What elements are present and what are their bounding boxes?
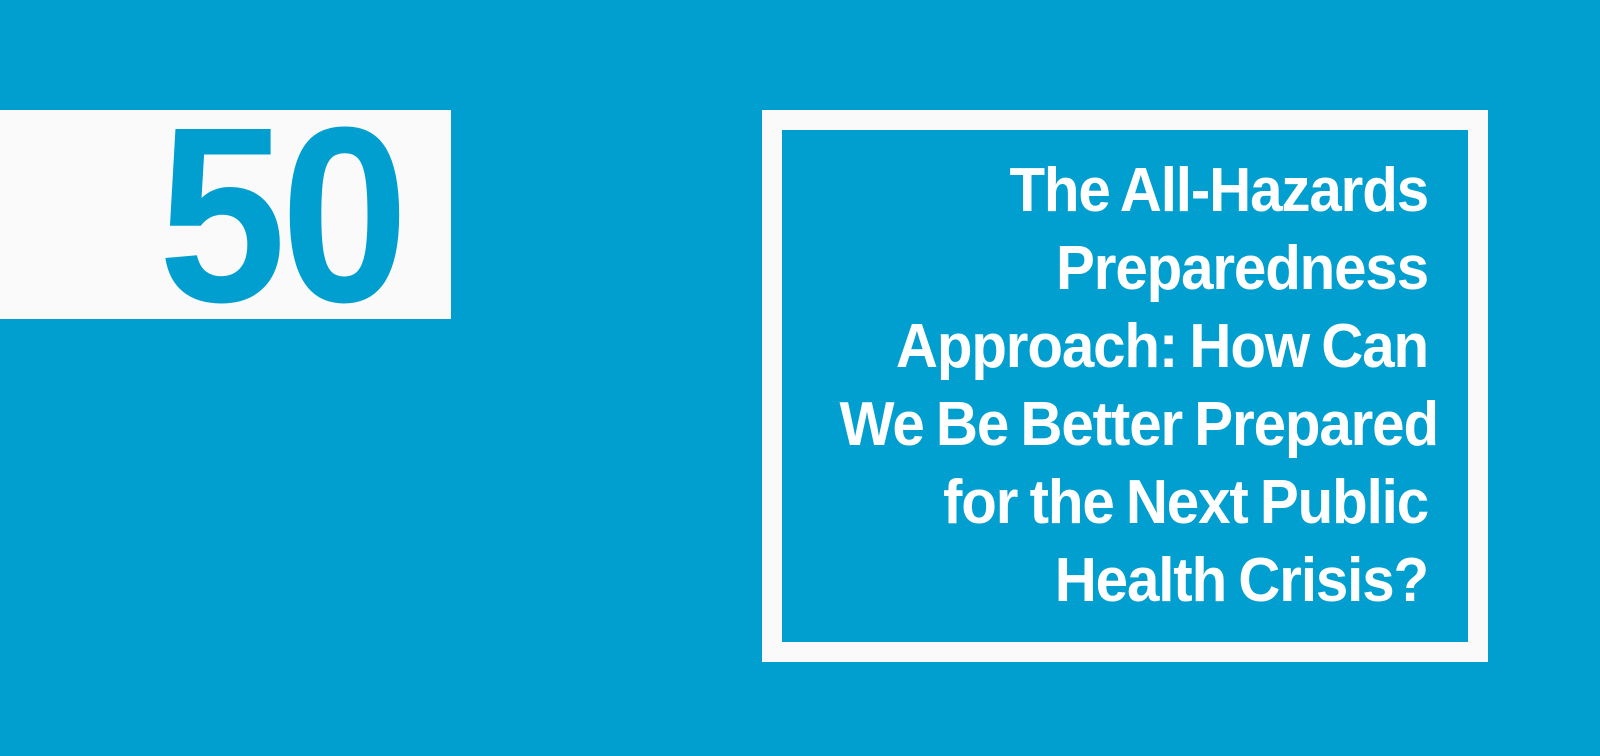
slide-canvas: 50 The All-Hazards Preparedness Approach…: [0, 0, 1600, 756]
page-title: The All-Hazards Preparedness Approach: H…: [840, 152, 1428, 620]
title-line-5: for the Next Public: [840, 464, 1428, 542]
title-frame-box: The All-Hazards Preparedness Approach: H…: [762, 110, 1488, 662]
title-line-6: Health Crisis?: [840, 542, 1428, 620]
chapter-number-plate: 50: [0, 110, 451, 319]
chapter-number: 50: [158, 125, 403, 305]
title-inner-area: The All-Hazards Preparedness Approach: H…: [782, 152, 1468, 620]
title-line-4: We Be Better Prepared: [840, 386, 1428, 464]
title-line-2: Preparedness: [840, 230, 1428, 308]
title-line-3: Approach: How Can: [840, 308, 1428, 386]
title-line-1: The All-Hazards: [840, 152, 1428, 230]
